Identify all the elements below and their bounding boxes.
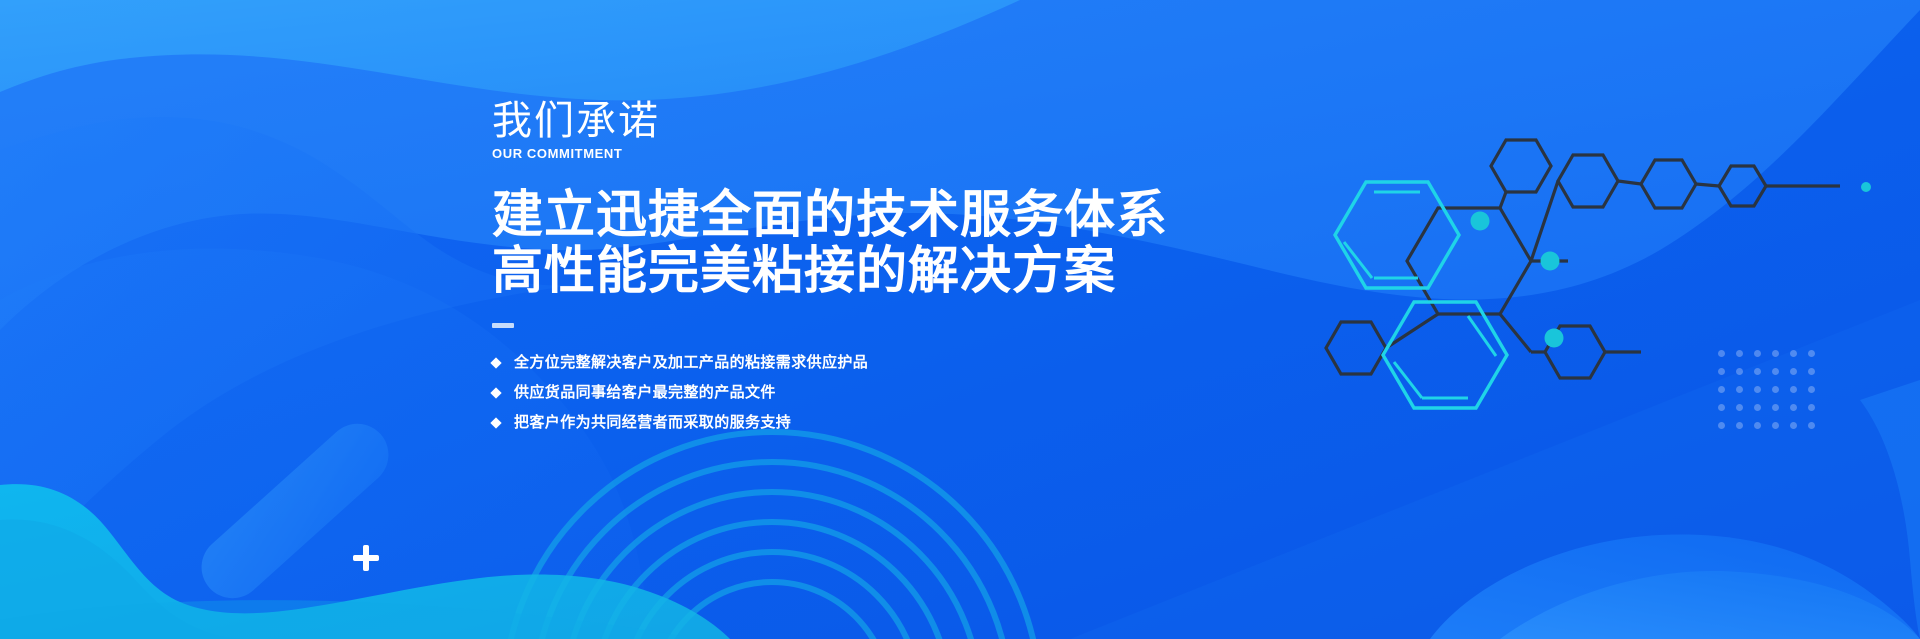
banner-content: 我们承诺 OUR COMMITMENT 建立迅捷全面的技术服务体系 高性能完美粘… [492,98,1132,438]
aromatic-line-lower-1 [1468,316,1496,356]
bond-6 [1500,314,1531,352]
list-item-label: 把客户作为共同经营者而采取的服务支持 [514,408,791,438]
bond-7 [1618,181,1641,184]
grid-dot [1790,368,1797,375]
grid-dot [1790,350,1797,357]
grid-dot [1772,368,1779,375]
grid-dot [1790,386,1797,393]
node-2 [1541,252,1560,271]
grid-dot [1718,368,1725,375]
grid-dot [1736,422,1743,429]
grid-dot [1754,386,1761,393]
headline: 建立迅捷全面的技术服务体系 高性能完美粘接的解决方案 [492,187,1132,299]
hexagon-chain-1 [1558,155,1618,207]
grid-dot [1736,386,1743,393]
hexagon-chain-3 [1719,166,1766,206]
dot-grid [1718,350,1826,440]
grid-dot [1772,350,1779,357]
grid-dot [1736,404,1743,411]
list-item: 全方位完整解决客户及加工产品的粘接需求供应护品 [492,348,1132,378]
grid-dot [1718,386,1725,393]
grid-dot [1790,422,1797,429]
hexagon-center-dark [1407,208,1531,314]
grid-dot [1808,386,1815,393]
grid-dot [1808,350,1815,357]
grid-dot [1718,350,1725,357]
hexagon-lower-cyan [1383,302,1507,408]
hexagon-top [1491,140,1551,192]
grid-dot [1772,404,1779,411]
headline-line-2: 高性能完美粘接的解决方案 [492,243,1132,299]
grid-dot [1808,404,1815,411]
node-1 [1471,212,1490,231]
kicker-heading-en: OUR COMMITMENT [492,146,1132,161]
grid-dot [1772,422,1779,429]
bond-8 [1696,184,1719,186]
diamond-bullet-icon [490,417,501,428]
node-4 [1861,182,1871,192]
list-item-label: 供应货品同事给客户最完整的产品文件 [514,378,776,408]
promo-banner: 我们承诺 OUR COMMITMENT 建立迅捷全面的技术服务体系 高性能完美粘… [0,0,1920,639]
grid-dot [1772,386,1779,393]
hexagon-lower-left [1326,322,1386,374]
hexagon-upper-cyan [1335,182,1459,288]
grid-dot [1736,368,1743,375]
grid-dot [1754,368,1761,375]
grid-dot [1790,404,1797,411]
hexagons-dark [1326,140,1840,378]
molecule-graphic [1310,130,1920,470]
grid-dot [1808,422,1815,429]
divider-rule [492,323,514,328]
list-item: 供应货品同事给客户最完整的产品文件 [492,378,1132,408]
diamond-bullet-icon [490,387,501,398]
kicker-heading-zh: 我们承诺 [492,98,1132,144]
node-3 [1545,329,1564,348]
grid-dot [1754,422,1761,429]
hexagon-chain-2 [1641,160,1696,208]
grid-dot [1808,368,1815,375]
grid-dot [1718,404,1725,411]
list-item: 把客户作为共同经营者而采取的服务支持 [492,408,1132,438]
headline-line-1: 建立迅捷全面的技术服务体系 [492,187,1132,243]
grid-dot [1736,350,1743,357]
commitment-list: 全方位完整解决客户及加工产品的粘接需求供应护品 供应货品同事给客户最完整的产品文… [492,348,1132,438]
grid-dot [1754,350,1761,357]
diamond-bullet-icon [490,357,501,368]
list-item-label: 全方位完整解决客户及加工产品的粘接需求供应护品 [514,348,868,378]
grid-dot [1754,404,1761,411]
bond-3 [1386,314,1438,348]
grid-dot [1718,422,1725,429]
bond-1 [1500,192,1506,208]
plus-icon [353,545,379,571]
